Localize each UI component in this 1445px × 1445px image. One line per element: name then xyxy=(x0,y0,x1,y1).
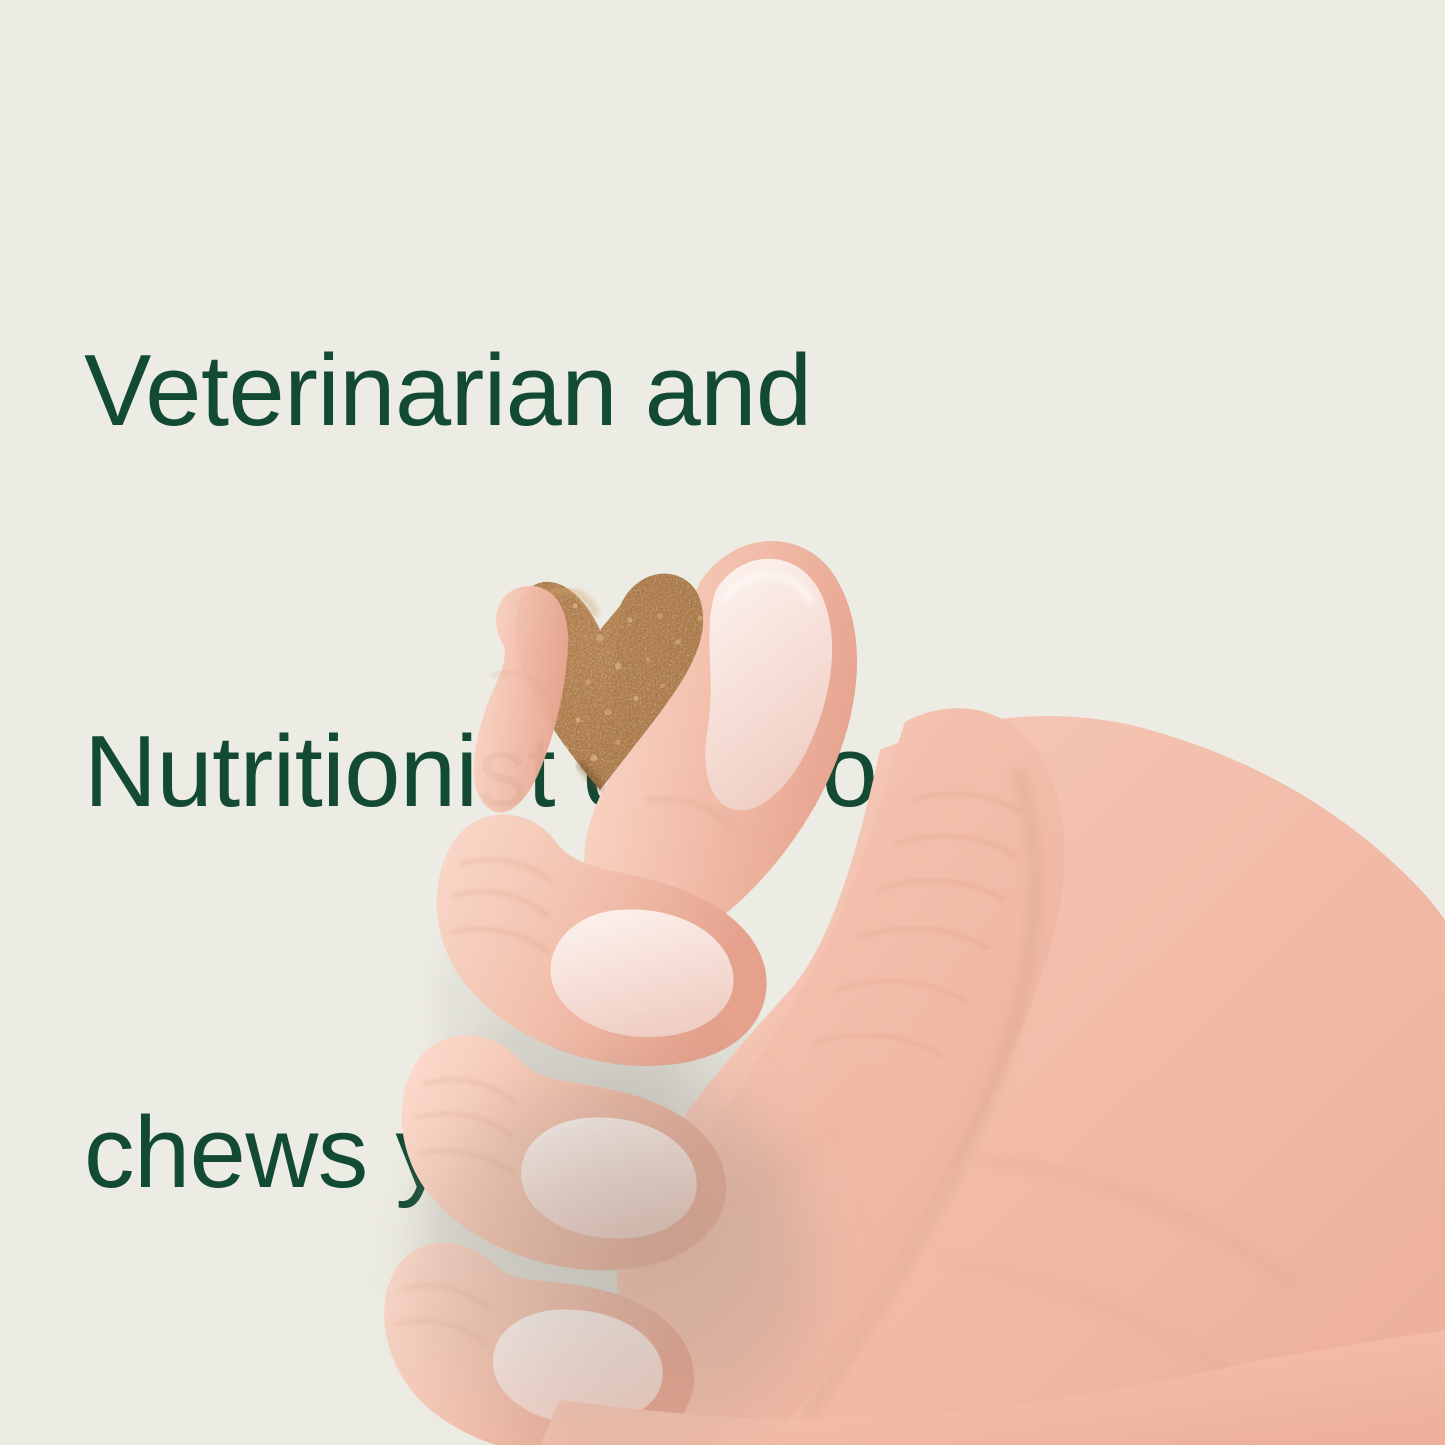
supporting-thumb-tip xyxy=(474,586,568,813)
product-photo xyxy=(0,470,1445,1445)
ad-creative-canvas: Veterinarian and Nutritionist developed … xyxy=(0,0,1445,1445)
headline-line-1: Veterinarian and xyxy=(84,328,1284,455)
